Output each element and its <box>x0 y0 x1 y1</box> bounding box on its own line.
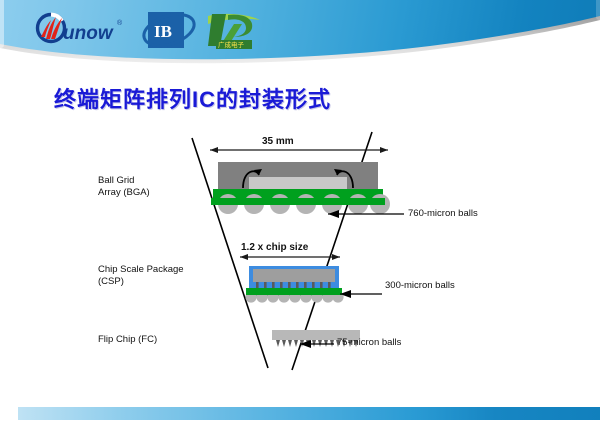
ib-logo-graphic: IB <box>140 9 200 51</box>
bga-dimension-label: 35 mm <box>262 136 294 148</box>
bga-die <box>249 177 347 189</box>
csp-ball-callout-label: 300-micron balls <box>385 280 455 292</box>
ib-logo: IB <box>140 9 200 51</box>
fc-label: Flip Chip (FC) <box>98 334 157 346</box>
huacheng-logo-graphic: 广成电子 <box>204 10 264 52</box>
bga-label: Ball Grid Array (BGA) <box>98 175 150 199</box>
csp-callout-leader <box>340 290 382 298</box>
huacheng-logo: 广成电子 <box>204 10 264 52</box>
csp-label-line2: (CSP) <box>98 276 184 288</box>
csp-package-graphic <box>240 254 382 303</box>
csp-dimension-label: 1.2 x chip size <box>241 242 308 254</box>
huacheng-logo-subtext: 广成电子 <box>218 40 245 49</box>
page-title: 终端矩阵排列IC的封装形式 <box>54 82 331 114</box>
unow-logo-trademark: ® <box>117 19 123 27</box>
csp-label: Chip Scale Package (CSP) <box>98 264 184 288</box>
csp-dimension-line <box>240 254 340 260</box>
bga-label-line2: Array (BGA) <box>98 187 150 199</box>
package-comparison-diagram: Ball Grid Array (BGA) Chip Scale Package… <box>0 118 600 398</box>
csp-die <box>253 269 335 282</box>
fc-label-line1: Flip Chip (FC) <box>98 334 157 346</box>
unow-logo-graphic: unow ® <box>32 12 128 48</box>
slide-canvas: unow ® IB 广成电子 终端矩阵排列IC的封装形式 <box>0 0 600 424</box>
slide-header: unow ® IB 广成电子 <box>0 0 600 78</box>
bga-package-graphic <box>210 147 404 218</box>
bga-ball-callout-label: 760-micron balls <box>408 208 478 220</box>
bga-label-line1: Ball Grid <box>98 175 150 187</box>
fc-ball-callout-label: 75-micron balls <box>337 337 401 349</box>
fc-callout-leader <box>300 340 334 348</box>
diagram-graphic <box>0 118 600 398</box>
bga-callout-leader <box>328 210 404 218</box>
bga-dimension-line <box>210 147 388 153</box>
unow-logo: unow ® <box>32 12 128 48</box>
svg-text:unow: unow <box>63 23 114 44</box>
csp-label-line1: Chip Scale Package <box>98 264 184 276</box>
footer-accent-bar <box>18 407 600 420</box>
svg-text:IB: IB <box>154 22 172 41</box>
